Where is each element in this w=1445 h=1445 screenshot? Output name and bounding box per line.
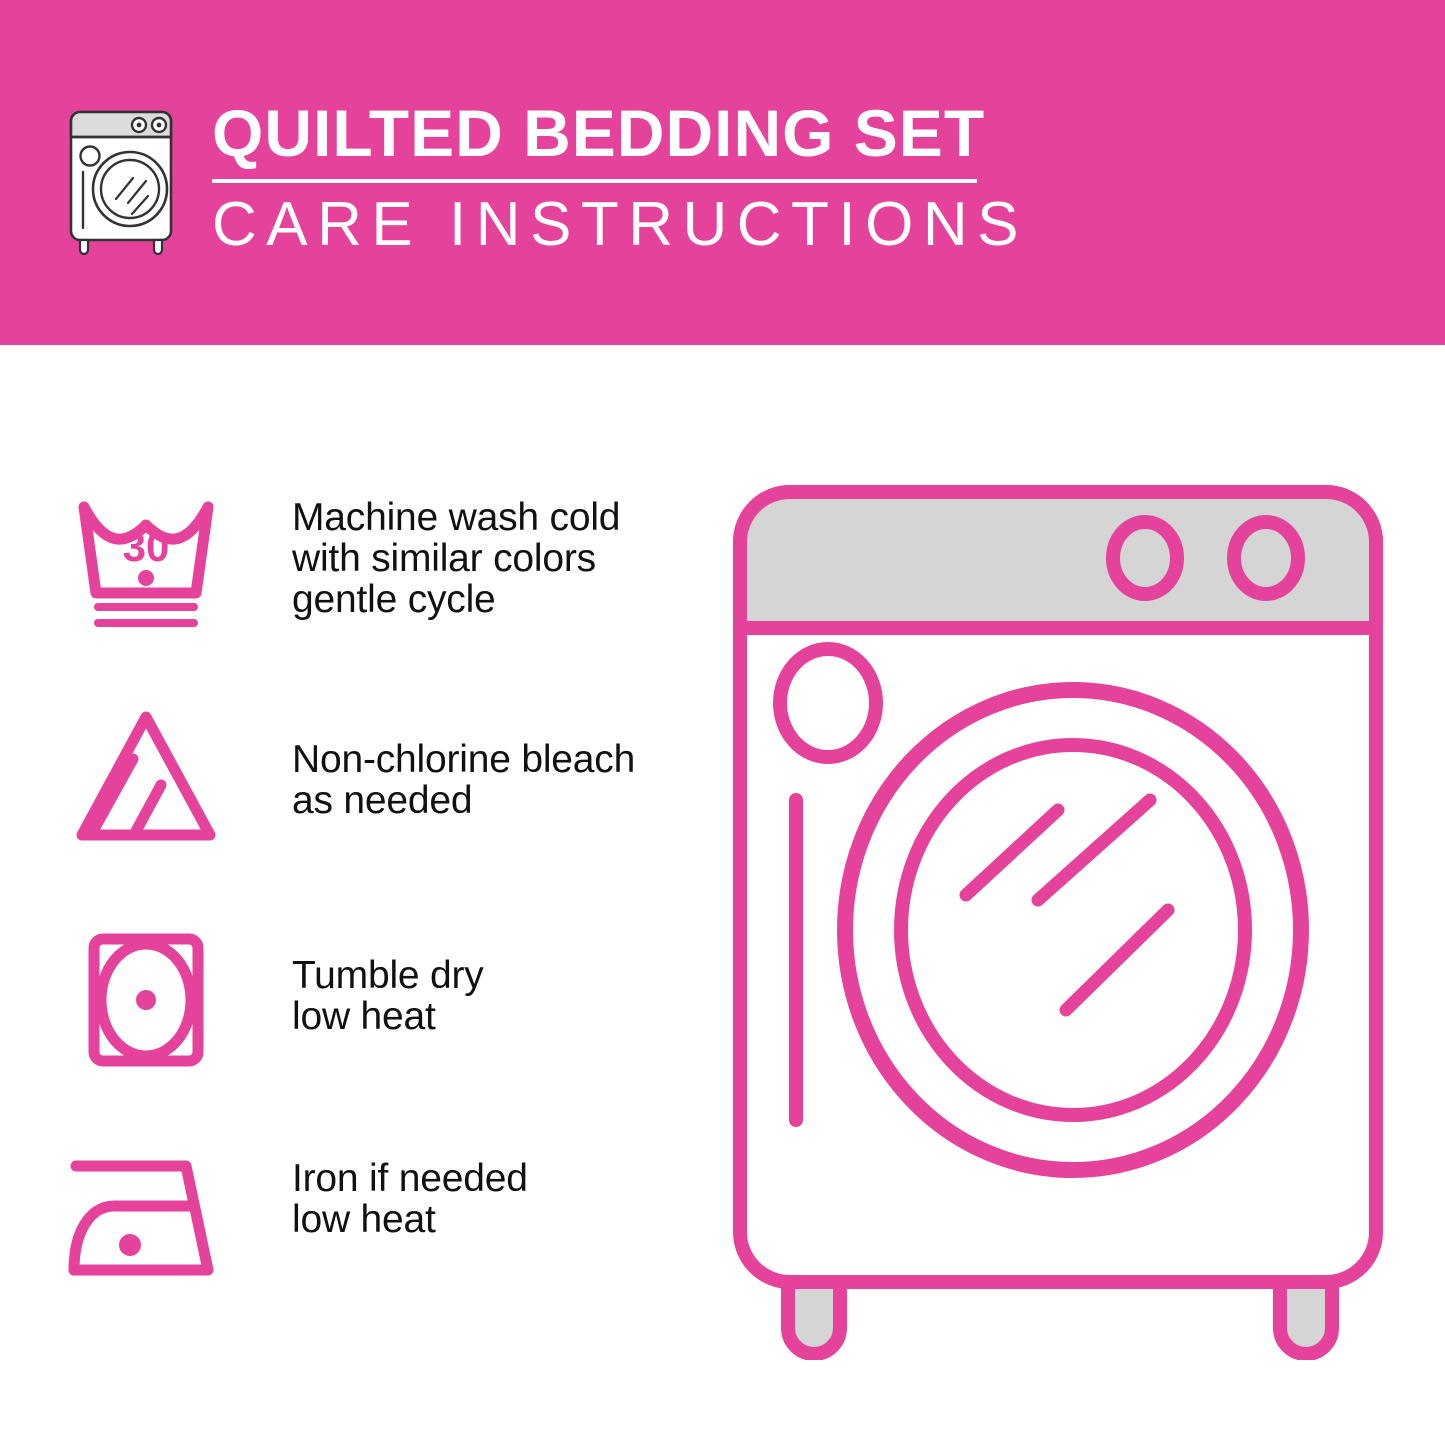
page-title: QUILTED BEDDING SET bbox=[210, 98, 1028, 168]
header-banner: QUILTED BEDDING SET CARE INSTRUCTIONS bbox=[0, 0, 1445, 345]
care-item-label: Machine wash cold with similar colors ge… bbox=[292, 485, 620, 620]
page-subtitle: CARE INSTRUCTIONS bbox=[210, 192, 1028, 258]
care-item-label: Iron if needed low heat bbox=[292, 1140, 528, 1240]
control-knob bbox=[1234, 522, 1298, 594]
control-knob bbox=[1113, 522, 1177, 594]
care-item-tumble-dry: Tumble dry low heat bbox=[62, 925, 682, 1075]
iron-icon bbox=[62, 1140, 230, 1290]
care-item-machine-wash: 30 Machine wash cold with similar colors… bbox=[62, 485, 682, 635]
washing-machine-illustration bbox=[718, 470, 1398, 1360]
bleach-triangle-icon bbox=[62, 703, 230, 853]
care-item-bleach: Non-chlorine bleach as needed bbox=[62, 703, 682, 853]
wash-tub-30-icon: 30 bbox=[62, 485, 230, 635]
wash-temperature-value: 30 bbox=[123, 523, 170, 570]
washing-machine-logo-icon bbox=[62, 104, 188, 256]
main-content: 30 Machine wash cold with similar colors… bbox=[0, 345, 1445, 1445]
header-text-block: QUILTED BEDDING SET CARE INSTRUCTIONS bbox=[210, 98, 1028, 258]
title-divider bbox=[212, 179, 977, 183]
header-content: QUILTED BEDDING SET CARE INSTRUCTIONS bbox=[62, 98, 1028, 258]
tumble-dry-icon bbox=[62, 925, 230, 1075]
care-item-label: Tumble dry low heat bbox=[292, 925, 484, 1037]
care-item-iron: Iron if needed low heat bbox=[62, 1140, 682, 1290]
care-item-label: Non-chlorine bleach as needed bbox=[292, 703, 635, 821]
